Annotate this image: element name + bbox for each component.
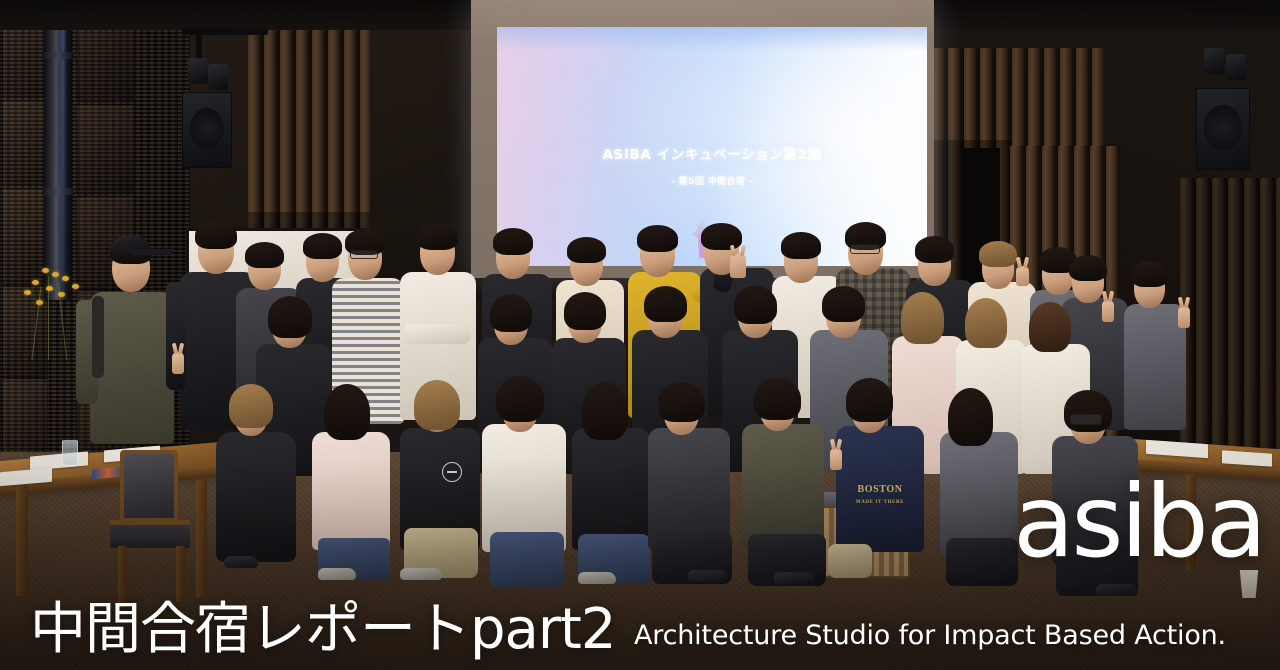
pa-speaker — [1196, 88, 1250, 170]
hand-gesture — [1016, 266, 1029, 286]
peace-sign-hand — [830, 448, 842, 470]
table-leg — [16, 486, 28, 596]
ventilation-pipe — [44, 0, 72, 300]
banner-tagline: Architecture Studio for Impact Based Act… — [634, 622, 1226, 649]
chair-leg — [176, 546, 185, 602]
pa-speaker — [182, 92, 232, 168]
pipe-band — [42, 188, 74, 195]
slide-subtitle: - 第5回 中間合宿 - — [497, 174, 927, 187]
eyeglasses — [850, 244, 880, 254]
hand-gesture — [172, 352, 184, 374]
lighting-truss — [1188, 8, 1280, 14]
pipe-highlight — [61, 0, 65, 300]
screen-glow — [497, 27, 927, 51]
spotlight — [208, 64, 228, 90]
article-header-banner: ASIBA インキュベーション第2期 - 第5回 中間合宿 - — [0, 0, 1280, 670]
asiba-brand-logo: asiba — [1013, 480, 1264, 564]
spotlight — [1226, 54, 1246, 80]
chair-seat — [110, 520, 190, 548]
wood-slat-panel — [1180, 178, 1280, 468]
spotlight — [188, 58, 208, 84]
cap-brim — [128, 249, 174, 255]
pipe-band — [42, 52, 74, 59]
spotlight — [1204, 48, 1224, 74]
eyeglasses — [1070, 414, 1102, 425]
table-leg — [196, 480, 207, 598]
slide-title: ASIBA インキュベーション第2期 — [497, 143, 927, 163]
boston-text-bottom: MADE IT THERE — [836, 500, 924, 505]
lighting-truss — [182, 28, 268, 35]
boston-text-top: BOSTON — [836, 484, 924, 495]
peace-sign-hand — [1178, 306, 1190, 328]
banner-title: 中間合宿レポートpart2 — [30, 602, 615, 658]
backpack-strap — [92, 296, 104, 378]
eyeglasses — [350, 250, 378, 259]
peace-sign-hand — [1102, 300, 1114, 322]
chair-backrest — [120, 450, 178, 522]
tshirt-logo-icon — [442, 462, 462, 482]
drinking-glass — [62, 440, 78, 466]
waving-hand — [730, 254, 746, 278]
